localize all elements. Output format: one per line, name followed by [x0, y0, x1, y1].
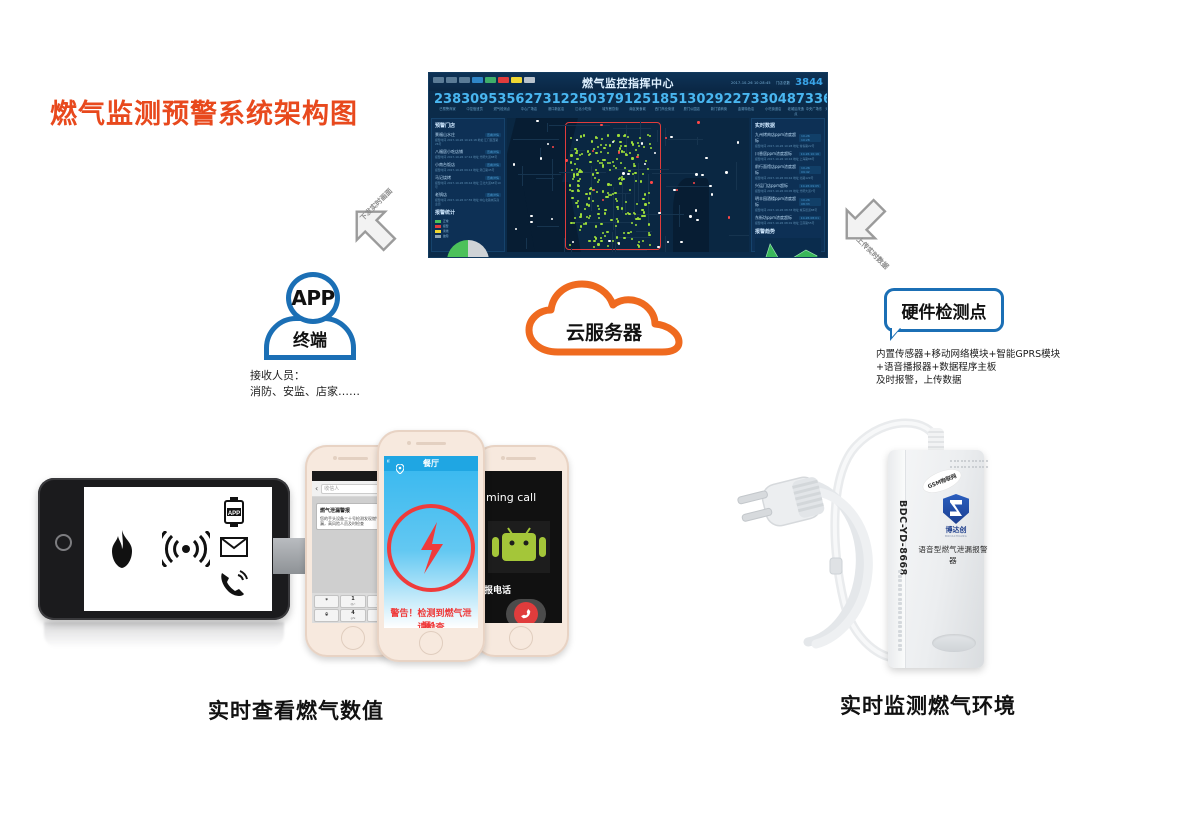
map-sensor-dot[interactable] — [580, 213, 582, 215]
map-poi-dot[interactable] — [608, 240, 610, 242]
kpi-label: 老城区改造点 — [787, 107, 805, 117]
hardware-note-line2: +语音播报器+数据程序主板 — [876, 361, 1060, 374]
kpi-label: 江北小吃街 — [570, 107, 597, 112]
map-poi-dot[interactable] — [705, 157, 707, 159]
map-sensor-dot[interactable] — [616, 206, 618, 208]
kpi-cell: 87老城区改造点 — [787, 93, 805, 117]
map-sensor-dot[interactable] — [624, 134, 626, 136]
panel-row[interactable]: 川香居ppm浓度超标10-26 10:16报警时间 2017-10-26 10:… — [755, 151, 821, 161]
map-sensor-dot[interactable] — [644, 203, 646, 205]
map-sensor-dot[interactable] — [602, 164, 604, 166]
map-sensor-dot[interactable] — [631, 222, 633, 224]
map-alarm-dot[interactable] — [676, 189, 678, 191]
map-sensor-dot[interactable] — [588, 240, 590, 242]
map-poi-dot[interactable] — [696, 219, 698, 221]
map-sensor-dot[interactable] — [607, 183, 609, 185]
map-sensor-dot[interactable] — [637, 142, 639, 144]
shield-icon — [943, 494, 969, 524]
hardware-title: 硬件检测点 — [902, 298, 987, 323]
legend-item: 报警 — [435, 224, 501, 228]
panel-row[interactable]: 前行面馆店ppm浓度超标10-26 09:42报警时间 2017-10-26 0… — [755, 164, 821, 180]
hangup-button[interactable] — [506, 599, 546, 623]
map-sensor-dot[interactable] — [576, 173, 578, 175]
map-alarm-dot[interactable] — [650, 181, 652, 183]
alarm-screen[interactable]: ◧ 餐厅 警告！检测到燃气泄漏！ 请检查 — [384, 456, 478, 628]
map-sensor-dot[interactable] — [595, 152, 597, 154]
terminal-note-line1: 接收人员： — [250, 368, 360, 384]
alarm-phone[interactable]: ◧ 餐厅 警告！检测到燃气泄漏！ 请检查 — [377, 430, 485, 662]
dashboard-datetime: 2017-10-26 10:28:45 — [731, 81, 771, 85]
map-poi-dot[interactable] — [622, 172, 624, 174]
map-sensor-dot[interactable] — [617, 220, 619, 222]
map-poi-dot[interactable] — [695, 209, 697, 211]
map-poi-dot[interactable] — [701, 174, 703, 176]
device-vent-hole — [950, 466, 952, 468]
panel-row-badge[interactable]: 10-26 08:33 — [799, 198, 821, 206]
map-sensor-dot[interactable] — [614, 192, 616, 194]
map-road — [518, 174, 561, 175]
hardware-note: 内置传感器+移动网络模块+智能GPRS模块 +语音播报器+数据程序主板 及时报警… — [876, 348, 1060, 387]
device-slot — [898, 607, 902, 610]
phone-speaker — [506, 457, 536, 460]
map-poi-dot[interactable] — [657, 246, 659, 248]
keypad-key[interactable]: 4ghi — [340, 609, 365, 622]
kpi-cell: 535燃气检测点 — [488, 93, 515, 117]
map-poi-dot[interactable] — [547, 143, 549, 145]
map-road — [613, 128, 651, 129]
map-sensor-dot[interactable] — [637, 218, 639, 220]
kpi-cell: 238已预警商家 — [434, 93, 461, 117]
legend-label: 正常 — [443, 219, 449, 223]
map-road — [736, 162, 737, 190]
map-poi-dot[interactable] — [551, 218, 553, 220]
map-sensor-dot[interactable] — [600, 151, 602, 153]
device-vent-hole — [954, 460, 956, 462]
map-sensor-dot[interactable] — [632, 143, 634, 145]
device-vent-hole — [954, 466, 956, 468]
keypad-key[interactable]: * — [314, 595, 339, 608]
dashboard-right-panel: 实时数据 九州烤肉店ppm浓度超标10-26 10:28报警时间 2017-10… — [751, 118, 825, 252]
map-sensor-dot[interactable] — [638, 145, 640, 147]
phone-camera — [333, 456, 337, 460]
map-sensor-dot[interactable] — [586, 216, 588, 218]
device-vent-hole — [975, 466, 977, 468]
map-sensor-dot[interactable] — [616, 236, 618, 238]
map-sensor-dot[interactable] — [588, 204, 590, 206]
map-sensor-dot[interactable] — [648, 192, 650, 194]
map-poi-dot[interactable] — [513, 163, 515, 165]
map-sensor-dot[interactable] — [605, 196, 607, 198]
dashboard-map[interactable] — [507, 118, 749, 252]
map-poi-dot[interactable] — [667, 241, 669, 243]
panel-row[interactable]: 九州烤肉店ppm浓度超标10-26 10:28报警时间 2017-10-26 1… — [755, 132, 821, 148]
tablet-home-button[interactable] — [55, 534, 72, 551]
kpi-label: 河东南岸 — [823, 107, 828, 112]
right-panel-chart-title: 报警趋势 — [755, 228, 821, 235]
device-vent-hole — [979, 460, 981, 462]
app-label: APP — [291, 286, 334, 310]
map-road — [665, 236, 666, 252]
panel-row-badge[interactable]: 10-26 09:42 — [799, 166, 821, 174]
map-sensor-dot[interactable] — [597, 243, 599, 245]
tablet-device[interactable]: APP — [38, 478, 290, 620]
panel-row[interactable]: 小南台饭店查看详情报警时间 2017-10-26 09:12 地址 港口路45号 — [435, 162, 501, 172]
panel-row-badge[interactable]: 10-26 10:28 — [799, 134, 821, 142]
device-slot — [898, 570, 902, 573]
map-sensor-dot[interactable] — [610, 194, 612, 196]
map-sensor-dot[interactable] — [631, 157, 633, 159]
map-sensor-dot[interactable] — [607, 152, 609, 154]
map-road — [697, 137, 698, 145]
map-sensor-dot[interactable] — [586, 203, 588, 205]
device-vent-hole — [957, 460, 959, 462]
kpi-value: 33 — [805, 93, 823, 107]
map-sensor-dot[interactable] — [627, 136, 629, 138]
map-sensor-dot[interactable] — [585, 193, 587, 195]
map-poi-dot[interactable] — [695, 173, 697, 175]
map-sensor-dot[interactable] — [577, 205, 579, 207]
map-alarm-dot[interactable] — [697, 121, 699, 123]
map-sensor-dot[interactable] — [636, 203, 638, 205]
device-vent-hole — [950, 460, 952, 462]
svg-text:APP: APP — [228, 511, 240, 517]
map-sensor-dot[interactable] — [600, 240, 602, 242]
legend-label: 故障 — [443, 234, 449, 238]
panel-row-badge[interactable]: 查看详情 — [485, 150, 501, 154]
panel-row-badge[interactable]: 查看详情 — [485, 193, 501, 197]
app-head-icon: APP — [286, 272, 340, 324]
dashboard-count-label: 门店总数 — [776, 80, 790, 85]
device-slot — [898, 611, 902, 614]
map-road — [617, 237, 650, 238]
hangup-icon — [514, 602, 538, 623]
device-slot — [898, 639, 902, 642]
app-terminal-icon: APP 终端 — [264, 272, 356, 362]
page-title: 燃气监测预警系统架构图 — [50, 92, 358, 131]
kpi-value: 65 — [823, 93, 828, 107]
keypad-key[interactable]: 1@/: — [340, 595, 365, 608]
panel-row-badge[interactable]: 10-26 10:16 — [799, 152, 821, 156]
device-slot — [898, 598, 902, 601]
map-sensor-dot[interactable] — [570, 154, 572, 156]
legend-swatch — [435, 220, 441, 223]
incoming-call-text: ming call — [486, 491, 536, 504]
kpi-cell: 185西门商业街道 — [651, 93, 678, 117]
map-sensor-dot[interactable] — [592, 173, 594, 175]
sms-back-icon[interactable]: ‹ — [315, 484, 318, 493]
dashboard-header: 燃气监控指挥中心 2017-10-26 10:28:45 门店总数 3844 — [429, 73, 827, 91]
map-sensor-dot[interactable] — [597, 213, 599, 215]
map-road — [552, 159, 553, 191]
panel-row-sub: 报警时间 2017-10-26 09:12 地址 港口路45号 — [435, 168, 501, 172]
keypad-key[interactable]: ⌾ — [314, 609, 339, 622]
kpi-label: 中心广场店 — [515, 107, 542, 112]
kpi-value: 125 — [624, 93, 651, 107]
device-slot — [898, 644, 902, 647]
device-slot — [898, 575, 902, 578]
kpi-cell: 130厦门公园店 — [678, 93, 705, 117]
kpi-cell: 309中控值班员 — [461, 93, 488, 117]
map-sensor-dot[interactable] — [633, 212, 635, 214]
map-road — [513, 139, 559, 140]
device-vent-hole — [957, 466, 959, 468]
caption-left: 实时查看燃气数值 — [208, 695, 384, 725]
map-alarm-dot[interactable] — [665, 137, 667, 139]
kpi-cell: 312港口新区店 — [543, 93, 570, 117]
kpi-value: 535 — [488, 93, 515, 107]
map-road — [564, 238, 565, 252]
kpi-label: 南区美食城 — [624, 107, 651, 112]
device-vent-hole — [968, 466, 970, 468]
panel-row-name: 明丰园酒楼ppm浓度超标 — [755, 196, 799, 208]
map-sensor-dot[interactable] — [644, 193, 646, 195]
device-vent-hole — [972, 460, 974, 462]
map-sensor-dot[interactable] — [603, 147, 605, 149]
map-sensor-dot[interactable] — [648, 234, 650, 236]
poster-canvas: 燃气监测预警系统架构图 燃气监控指挥中心 2017-10-26 10:28:45… — [0, 0, 1200, 814]
map-sensor-dot[interactable] — [641, 209, 643, 211]
hardware-note-line3: 及时报警，上传数据 — [876, 374, 1060, 387]
app-badge-icon: APP — [222, 497, 246, 531]
keypad-key-number: ⌾ — [325, 613, 328, 618]
map-poi-dot[interactable] — [725, 171, 727, 173]
panel-row-badge[interactable]: 10-26 09:05 — [799, 184, 821, 188]
dashboard-body: 预警门店 景福山水庄查看详情报警时间 2017-10-26 10:24:18 地… — [429, 118, 827, 254]
map-sensor-dot[interactable] — [617, 134, 619, 136]
map-poi-dot[interactable] — [737, 141, 739, 143]
map-sensor-dot[interactable] — [628, 170, 630, 172]
map-sensor-dot[interactable] — [589, 188, 591, 190]
map-sensor-dot[interactable] — [589, 192, 591, 194]
map-sensor-dot[interactable] — [631, 238, 633, 240]
map-sensor-dot[interactable] — [587, 150, 589, 152]
phone-speaker — [416, 442, 446, 445]
kpi-value: 379 — [597, 93, 624, 107]
envelope-icon — [220, 537, 248, 561]
map-sensor-dot[interactable] — [608, 194, 610, 196]
phone-speaker — [338, 457, 368, 460]
map-sensor-dot[interactable] — [572, 178, 574, 180]
kpi-label: 小吃街道店 — [760, 107, 787, 112]
panel-row-badge[interactable]: 查看详情 — [485, 176, 501, 180]
map-sensor-dot[interactable] — [571, 190, 573, 192]
panel-row-sub: 报警时间 2017-10-26 10:24:18 地址 江门区西路26号 — [435, 138, 501, 146]
map-sensor-dot[interactable] — [619, 141, 621, 143]
kpi-label: 新门镇商街 — [705, 107, 732, 112]
map-sensor-dot[interactable] — [579, 229, 581, 231]
alarm-app-bar: ◧ 餐厅 — [384, 456, 478, 471]
map-sensor-dot[interactable] — [574, 148, 576, 150]
signal-icon — [162, 531, 210, 571]
panel-row[interactable]: 八福居小吃店铺查看详情报警时间 2017-10-26 17:12 地址 光明大道… — [435, 149, 501, 159]
right-panel-title: 实时数据 — [755, 122, 821, 129]
flame-icon — [106, 529, 138, 573]
map-poi-dot[interactable] — [711, 193, 713, 195]
panel-row[interactable]: 东街坊ppm浓度超标10-26 08:01报警时间 2017-10-26 08:… — [755, 215, 821, 225]
kpi-cell: 33中央广场东 — [805, 93, 823, 117]
map-road — [679, 205, 680, 227]
legend-label: 报警 — [443, 224, 449, 228]
panel-row[interactable]: 老锅店查看详情报警时间 2017-10-26 07:55 地址 中山北路城东商业… — [435, 192, 501, 206]
map-sensor-dot[interactable] — [635, 149, 637, 151]
panel-row-sub: 报警时间 2017-10-26 07:55 地址 中山北路城东商业街 — [435, 198, 501, 206]
keypad-key-number: * — [325, 599, 328, 604]
map-sensor-dot[interactable] — [588, 197, 590, 199]
kpi-value: 627 — [515, 93, 542, 107]
panel-row-sub: 报警时间 2017-10-26 08:44 地址 江北大道68号10号 — [435, 181, 501, 189]
map-sensor-dot[interactable] — [625, 154, 627, 156]
kpi-label: 城东餐饮街 — [597, 107, 624, 112]
left-panel-title: 预警门店 — [435, 122, 501, 129]
kpi-cell: 627中心广场店 — [515, 93, 542, 117]
map-sensor-dot[interactable] — [589, 153, 591, 155]
caption-right: 实时监测燃气环境 — [840, 690, 1016, 720]
map-sensor-dot[interactable] — [595, 225, 597, 227]
alarm-trend-chart — [755, 238, 821, 258]
tablet-reflection — [44, 622, 284, 648]
map-poi-dot[interactable] — [627, 173, 629, 175]
device-vent-hole — [968, 460, 970, 462]
phone-home-button[interactable] — [341, 626, 365, 650]
kpi-value: 130 — [678, 93, 705, 107]
map-poi-dot[interactable] — [689, 215, 691, 217]
map-sensor-dot[interactable] — [624, 145, 626, 147]
map-poi-dot[interactable] — [658, 212, 660, 214]
map-poi-dot[interactable] — [709, 185, 711, 187]
map-sensor-dot[interactable] — [583, 134, 585, 136]
device-side-slots — [898, 570, 904, 654]
map-sensor-dot[interactable] — [591, 140, 593, 142]
panel-row[interactable]: 明丰园酒楼ppm浓度超标10-26 08:33报警时间 2017-10-26 0… — [755, 196, 821, 212]
map-sensor-dot[interactable] — [569, 184, 571, 186]
map-road — [625, 194, 626, 212]
kpi-cell: 65河东南岸 — [823, 93, 828, 117]
map-poi-dot[interactable] — [641, 142, 643, 144]
map-poi-dot[interactable] — [530, 221, 532, 223]
keypad-key-letters: ghi — [351, 616, 356, 620]
map-sensor-dot[interactable] — [579, 169, 581, 171]
call-screen[interactable]: ming call 报电话 — [480, 471, 562, 623]
map-sensor-dot[interactable] — [580, 225, 582, 227]
device-slot — [898, 648, 902, 651]
map-alarm-dot[interactable] — [728, 216, 730, 218]
terminal-note-line2: 消防、安监、店家…… — [250, 384, 360, 400]
kpi-value: 250 — [570, 93, 597, 107]
panel-row-badge[interactable]: 查看详情 — [485, 133, 501, 137]
map-sensor-dot[interactable] — [642, 173, 644, 175]
cloud-label: 云服务器 — [524, 318, 684, 345]
map-sensor-dot[interactable] — [580, 135, 582, 137]
gas-detector-device: BDC-YD-8668 GSM物联网 博达创 BODACHUANG 语音型燃气泄… — [736, 412, 1036, 677]
device-slot — [898, 616, 902, 619]
map-sensor-dot[interactable] — [621, 178, 623, 180]
map-alarm-dot[interactable] — [618, 151, 620, 153]
device-brand-logo: 博达创 BODACHUANG — [936, 494, 976, 538]
map-sensor-dot[interactable] — [642, 198, 644, 200]
device-vent-hole — [982, 466, 984, 468]
map-sensor-dot[interactable] — [609, 169, 611, 171]
panel-row-badge[interactable]: 10-26 08:01 — [799, 216, 821, 220]
map-sensor-dot[interactable] — [627, 232, 629, 234]
map-sensor-dot[interactable] — [574, 163, 576, 165]
map-sensor-dot[interactable] — [589, 215, 591, 217]
kpi-value: 304 — [760, 93, 787, 107]
panel-row-sub: 报警时间 2017-10-26 17:12 地址 光明大道88号 — [435, 155, 501, 159]
kpi-value: 238 — [434, 93, 461, 107]
map-road — [612, 169, 669, 170]
kpi-label: 港口新区店 — [543, 107, 570, 112]
map-sensor-dot[interactable] — [602, 232, 604, 234]
legend-swatch — [435, 225, 441, 228]
map-poi-dot[interactable] — [670, 136, 672, 138]
map-sensor-dot[interactable] — [619, 182, 621, 184]
map-alarm-dot[interactable] — [565, 159, 567, 161]
device-vent-hole — [961, 460, 963, 462]
map-sensor-dot[interactable] — [575, 202, 577, 204]
map-sensor-dot[interactable] — [643, 215, 645, 217]
map-sensor-dot[interactable] — [621, 150, 623, 152]
panel-row[interactable]: 兴运门店ppm超标10-26 09:05报警时间 2017-10-26 09:0… — [755, 183, 821, 193]
legend-item: 正常 — [435, 219, 501, 223]
kpi-cell: 125南区美食城 — [624, 93, 651, 117]
kpi-value: 87 — [787, 93, 805, 107]
map-sensor-dot[interactable] — [612, 161, 614, 163]
map-poi-dot[interactable] — [530, 215, 532, 217]
map-sensor-dot[interactable] — [610, 219, 612, 221]
hardware-callout-box: 硬件检测点 — [884, 288, 1004, 332]
map-road — [612, 232, 613, 252]
kpi-label: 中控值班员 — [461, 107, 488, 112]
map-road — [526, 238, 527, 249]
map-road — [652, 173, 695, 174]
map-road — [537, 226, 559, 227]
kpi-label: 厦门公园店 — [678, 107, 705, 112]
panel-row-badge[interactable]: 查看详情 — [485, 163, 501, 167]
phone-home-button[interactable] — [509, 626, 533, 650]
map-road — [729, 235, 749, 236]
android-robot-icon — [488, 521, 550, 573]
map-sensor-dot[interactable] — [619, 147, 621, 149]
map-sensor-dot[interactable] — [585, 222, 587, 224]
map-sensor-dot[interactable] — [601, 138, 603, 140]
map-sensor-dot[interactable] — [571, 169, 573, 171]
keypad-key-letters: @/: — [350, 602, 355, 606]
device-slot — [898, 634, 902, 637]
device-model-label: BDC-YD-8668 — [884, 500, 908, 584]
map-sensor-dot[interactable] — [592, 200, 594, 202]
map-road — [640, 121, 641, 143]
map-sensor-dot[interactable] — [597, 146, 599, 148]
alarm-app-title: 餐厅 — [384, 458, 478, 469]
map-sensor-dot[interactable] — [628, 213, 630, 215]
call-phone[interactable]: ming call 报电话 — [473, 445, 569, 657]
map-road — [571, 248, 572, 252]
map-sensor-dot[interactable] — [600, 223, 602, 225]
map-sensor-dot[interactable] — [607, 134, 609, 136]
panel-row[interactable]: 马记烧烤查看详情报警时间 2017-10-26 08:44 地址 江北大道68号… — [435, 175, 501, 189]
hardware-callout-tail-inner — [892, 328, 900, 337]
map-sensor-dot[interactable] — [643, 146, 645, 148]
tablet-icon-row: APP — [84, 487, 272, 611]
map-sensor-dot[interactable] — [595, 237, 597, 239]
phone-home-button[interactable] — [419, 631, 443, 655]
legend-label: 离线 — [443, 229, 449, 233]
map-sensor-dot[interactable] — [577, 189, 579, 191]
map-sensor-dot[interactable] — [621, 176, 623, 178]
panel-row[interactable]: 景福山水庄查看详情报警时间 2017-10-26 10:24:18 地址 江门区… — [435, 132, 501, 146]
map-sensor-dot[interactable] — [623, 237, 625, 239]
map-sensor-dot[interactable] — [596, 172, 598, 174]
